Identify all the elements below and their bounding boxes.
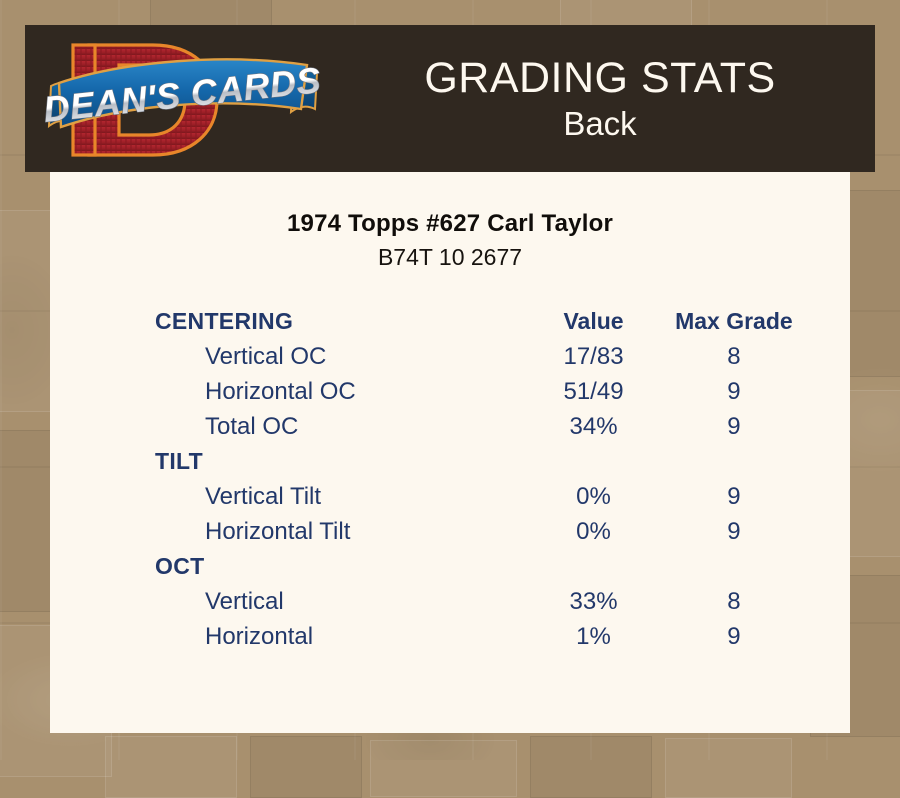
- background-card: [530, 736, 652, 798]
- grading-stats-table: CENTERINGValueMax GradeVertical OC17/838…: [155, 304, 800, 654]
- stats-row: Total OC34%9: [155, 409, 800, 444]
- stats-group-row: TILT: [155, 444, 800, 479]
- stats-row-label: Horizontal Tilt: [155, 514, 519, 549]
- stats-row-value: 17/83: [519, 339, 667, 374]
- stats-row-max-grade: 8: [668, 339, 800, 374]
- stats-row-value: 1%: [519, 619, 667, 654]
- background-card: [560, 0, 692, 27]
- card-title: 1974 Topps #627 Carl Taylor: [50, 210, 850, 238]
- stats-row: Horizontal1%9: [155, 619, 800, 654]
- page-subtitle: Back: [563, 104, 636, 144]
- stats-group-row: CENTERINGValueMax Grade: [155, 304, 800, 339]
- stats-row-max-grade: 9: [668, 514, 800, 549]
- stats-row-label: Vertical: [155, 584, 519, 619]
- stats-group-name: CENTERING: [155, 304, 519, 339]
- stats-group-name: TILT: [155, 444, 519, 479]
- stats-row-value: 34%: [519, 409, 667, 444]
- stats-row: Vertical OC17/838: [155, 339, 800, 374]
- stats-row-label: Vertical OC: [155, 339, 519, 374]
- stats-group-value-spacer: [519, 444, 667, 479]
- stats-row-label: Vertical Tilt: [155, 479, 519, 514]
- background-card: [250, 736, 362, 798]
- stats-row-label: Horizontal OC: [155, 374, 519, 409]
- stats-row-value: 33%: [519, 584, 667, 619]
- stats-group-row: OCT: [155, 549, 800, 584]
- stats-row-max-grade: 9: [668, 374, 800, 409]
- card-identifier: B74T 10 2677: [50, 244, 850, 271]
- deans-cards-logo[interactable]: DEAN'S CARDS: [45, 31, 320, 169]
- column-header-max-grade: Max Grade: [668, 304, 800, 339]
- stats-row-max-grade: 9: [668, 409, 800, 444]
- stats-group-value-spacer: [519, 549, 667, 584]
- stats-group-name: OCT: [155, 549, 519, 584]
- column-header-value: Value: [519, 304, 667, 339]
- stats-group-grade-spacer: [668, 444, 800, 479]
- stats-row-max-grade: 8: [668, 584, 800, 619]
- stats-row-label: Total OC: [155, 409, 519, 444]
- stats-row-label: Horizontal: [155, 619, 519, 654]
- background-card: [105, 736, 237, 798]
- stats-row: Horizontal OC51/499: [155, 374, 800, 409]
- page-title: GRADING STATS: [424, 54, 775, 102]
- stats-row: Horizontal Tilt0%9: [155, 514, 800, 549]
- stats-row-value: 0%: [519, 479, 667, 514]
- background-card: [150, 0, 272, 27]
- page-root: DEAN'S CARDS GRADING STATS Back 1974 Top…: [0, 0, 900, 760]
- header-title-block: GRADING STATS Back: [325, 25, 875, 172]
- content-panel: 1974 Topps #627 Carl Taylor B74T 10 2677…: [50, 172, 850, 733]
- grading-stats-section: CENTERINGValueMax GradeVertical OC17/838…: [50, 304, 850, 654]
- stats-row-max-grade: 9: [668, 619, 800, 654]
- stats-row-value: 0%: [519, 514, 667, 549]
- page-header: DEAN'S CARDS GRADING STATS Back: [25, 25, 875, 172]
- background-card: [370, 740, 517, 797]
- logo-svg: DEAN'S CARDS: [45, 31, 320, 169]
- stats-row-max-grade: 9: [668, 479, 800, 514]
- stats-row-value: 51/49: [519, 374, 667, 409]
- stats-row: Vertical Tilt0%9: [155, 479, 800, 514]
- background-card: [665, 738, 792, 798]
- stats-group-grade-spacer: [668, 549, 800, 584]
- stats-row: Vertical33%8: [155, 584, 800, 619]
